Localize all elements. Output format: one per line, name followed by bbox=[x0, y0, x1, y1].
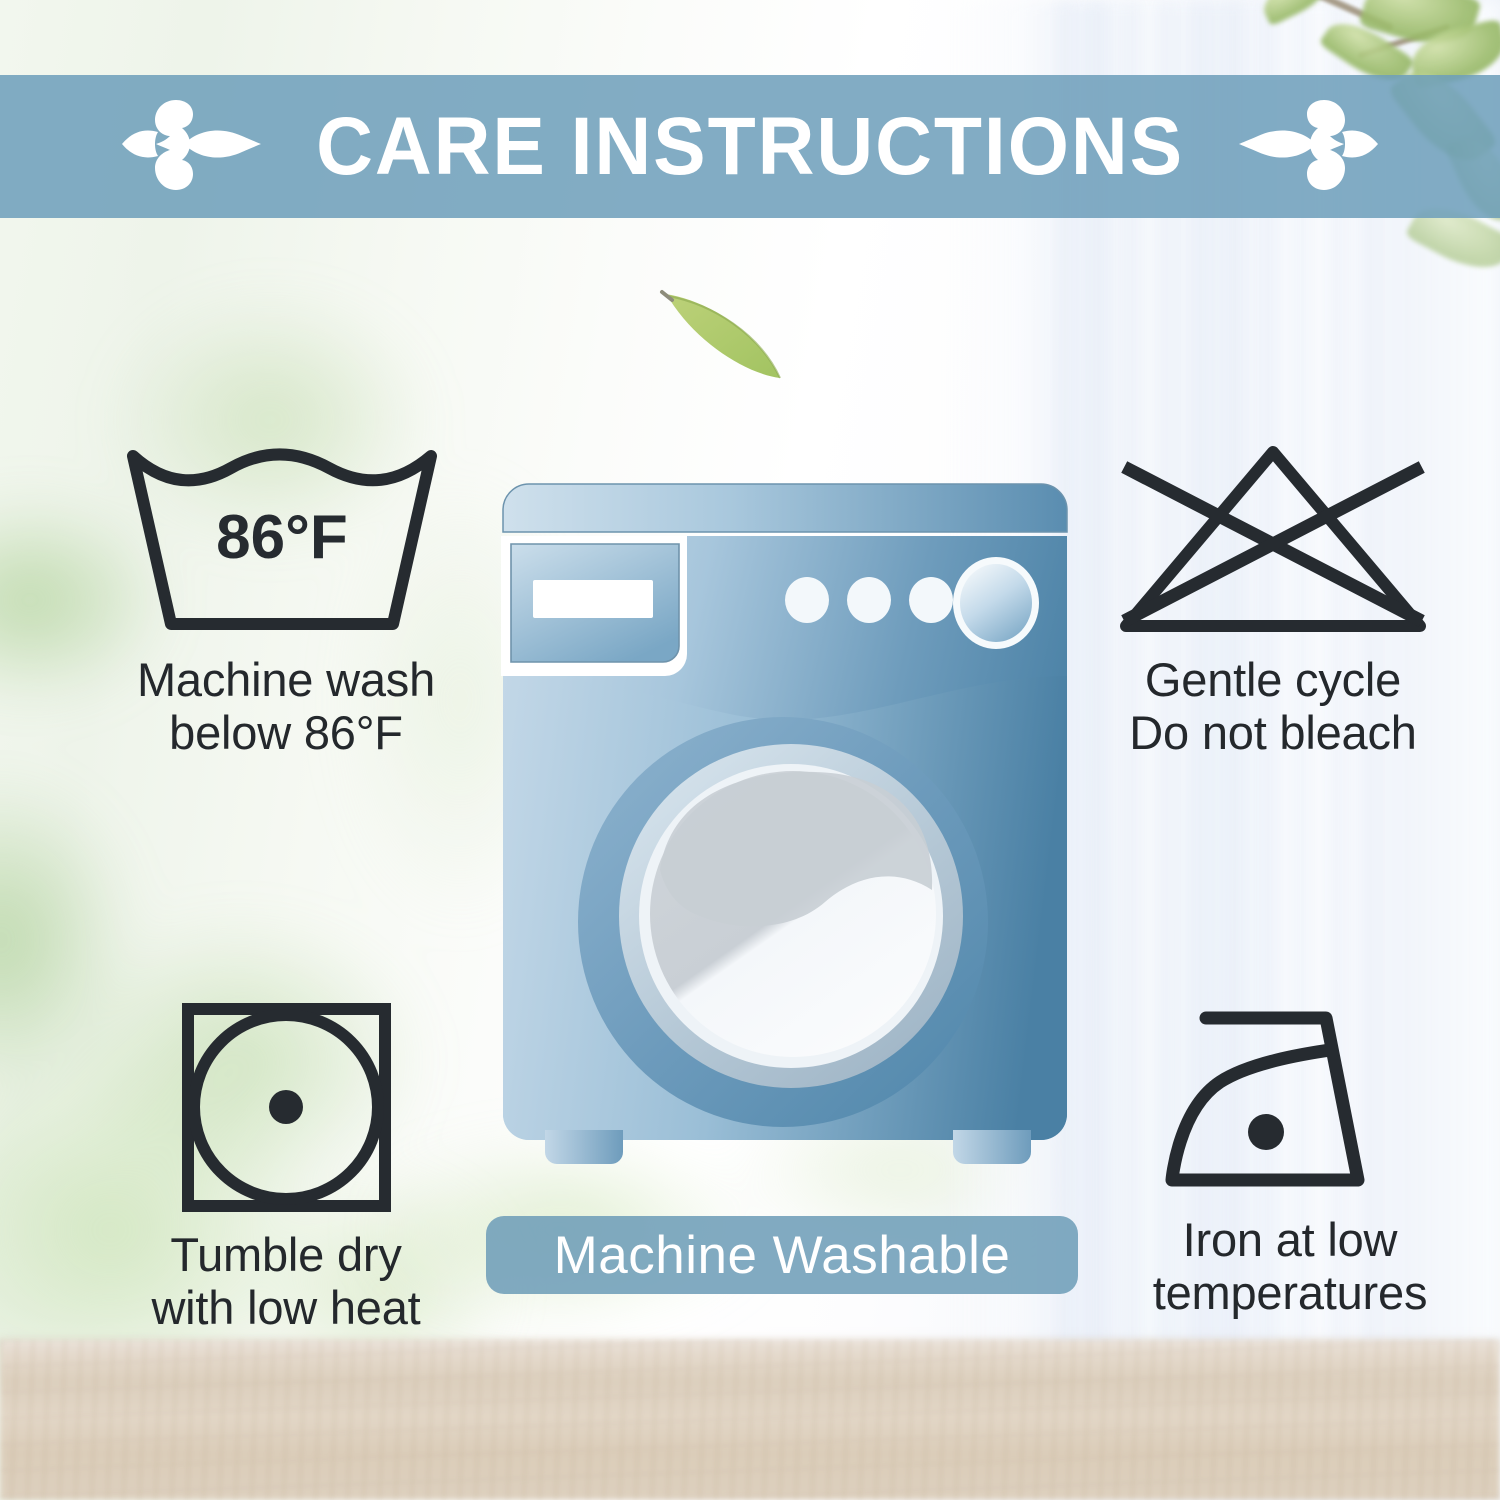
washer-foot-left bbox=[545, 1130, 623, 1164]
indicator-light-2 bbox=[847, 577, 891, 623]
triangle-crossed-out-icon bbox=[1108, 440, 1438, 640]
iron-one-dot-icon bbox=[1158, 1000, 1423, 1200]
washer-top-cap bbox=[503, 484, 1067, 532]
indicator-light-3 bbox=[909, 577, 953, 623]
care-symbol-caption: Tumble dry with low heat bbox=[151, 1229, 420, 1334]
care-symbol-tumble-dry: Tumble dry with low heat bbox=[76, 1000, 496, 1334]
washing-machine-illustration bbox=[495, 470, 1075, 1170]
care-symbol-caption: Gentle cycle Do not bleach bbox=[1129, 654, 1416, 759]
header-bar: CARE INSTRUCTIONS bbox=[0, 75, 1500, 218]
indicator-light-1 bbox=[785, 577, 829, 623]
fleur-de-lis-flourish-left-icon bbox=[114, 92, 264, 202]
tumble-dry-square-circle-one-dot-icon bbox=[179, 1000, 394, 1215]
badge-label: Machine Washable bbox=[554, 1229, 1011, 1282]
wood-table-grain bbox=[0, 1340, 1500, 1500]
wash-temperature-label: 86°F bbox=[216, 503, 348, 572]
care-symbol-caption: Machine wash below 86°F bbox=[137, 654, 435, 759]
washer-foot-right bbox=[953, 1130, 1031, 1164]
wash-tub-icon: 86°F bbox=[121, 440, 451, 640]
care-symbol-machine-wash: 86°F Machine wash below 86°F bbox=[56, 440, 516, 759]
power-knob bbox=[960, 564, 1032, 642]
page-title: CARE INSTRUCTIONS bbox=[316, 106, 1184, 188]
floating-leaf-icon bbox=[652, 282, 822, 412]
care-instructions-graphic: CARE INSTRUCTIONS 86°F Machine wash bbox=[0, 0, 1500, 1500]
machine-washable-badge: Machine Washable bbox=[486, 1216, 1078, 1294]
care-symbol-do-not-bleach: Gentle cycle Do not bleach bbox=[1058, 440, 1488, 759]
fleur-de-lis-flourish-right-icon bbox=[1236, 92, 1386, 202]
detergent-drawer-slot bbox=[533, 580, 653, 618]
care-symbol-caption: Iron at low temperatures bbox=[1153, 1214, 1428, 1319]
care-symbol-iron: Iron at low temperatures bbox=[1080, 1000, 1500, 1319]
